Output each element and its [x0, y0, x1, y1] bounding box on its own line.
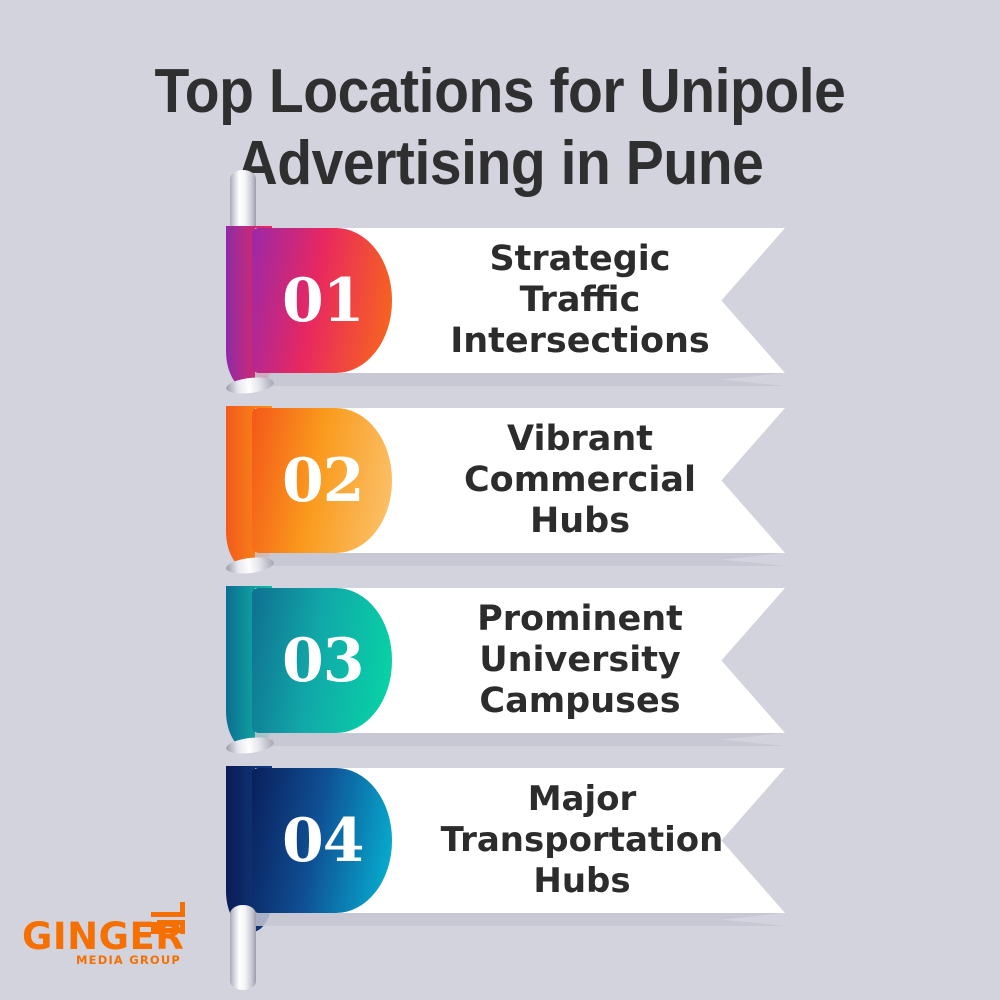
item-label-4: Major Transportation Hubs — [382, 768, 782, 913]
item-label-1: Strategic Traffic Intersections — [400, 228, 760, 373]
ginger-media-group-logo[interactable]: GINGER MEDIA GROUP — [22, 900, 212, 972]
ginger-nested-corner-mark-icon — [148, 900, 188, 938]
badge-number-label: 01 — [282, 271, 364, 331]
ribbon-shadow-1 — [255, 373, 785, 386]
number-badge-3[interactable]: 03 — [252, 588, 392, 733]
ribbon-shadow-3 — [255, 733, 785, 746]
list-item[interactable]: 02 Vibrant Commercial Hubs — [0, 390, 1000, 570]
page-title: Top Locations for Unipole Advertising in… — [40, 56, 960, 200]
list-item[interactable]: 03 Prominent University Campuses — [0, 570, 1000, 750]
badge-number-label: 03 — [282, 631, 364, 691]
number-badge-2[interactable]: 02 — [252, 408, 392, 553]
ribbon-shadow-2 — [255, 553, 785, 566]
ribbon-shadow-4 — [255, 913, 785, 926]
logo-tagline: MEDIA GROUP — [76, 953, 181, 967]
item-label-2: Vibrant Commercial Hubs — [400, 408, 760, 553]
list-item[interactable]: 01 Strategic Traffic Intersections — [0, 210, 1000, 390]
badge-number-label: 02 — [282, 451, 364, 511]
unipole-pole-bottom-icon — [230, 905, 256, 990]
badge-number-label: 04 — [282, 811, 364, 871]
number-badge-4[interactable]: 04 — [252, 768, 392, 913]
item-label-3: Prominent University Campuses — [400, 588, 760, 733]
number-badge-1[interactable]: 01 — [252, 228, 392, 373]
